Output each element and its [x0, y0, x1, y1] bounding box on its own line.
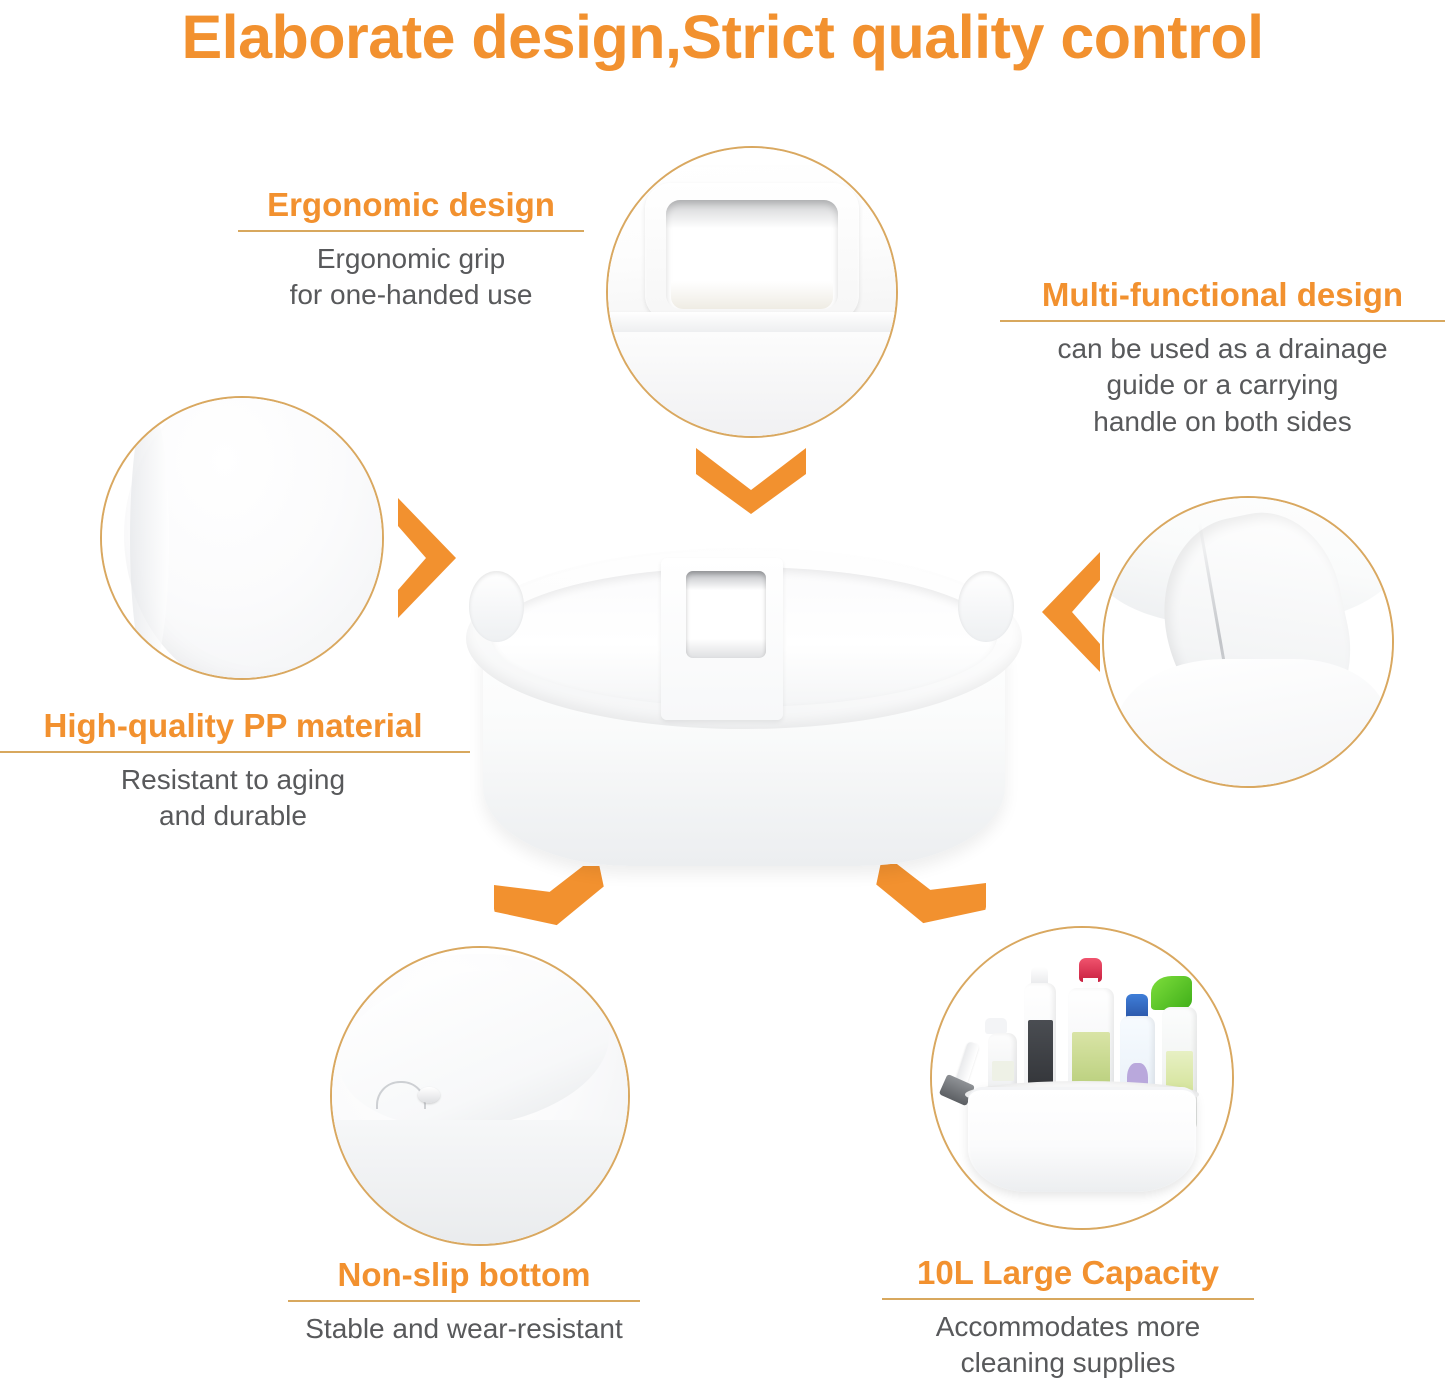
- feature-ergonomic-design: Ergonomic design Ergonomic grip for one-…: [238, 186, 584, 314]
- base-illustration: [332, 948, 628, 1244]
- handle-illustration: [608, 148, 896, 436]
- spray-trigger-green: [1151, 976, 1192, 1010]
- caddy-bin: [968, 1087, 1196, 1192]
- base-foot-nub: [418, 1087, 440, 1103]
- product-carry-handle: [686, 571, 767, 658]
- arrow-left-right: [398, 498, 474, 618]
- arrow-bottom-left: [494, 866, 606, 940]
- supplies-illustration: [932, 928, 1232, 1228]
- feature-large-capacity: 10L Large Capacity Accommodates more cle…: [882, 1254, 1254, 1382]
- handle-grip-opening: [666, 200, 839, 309]
- feature-nonslip-bottom: Non-slip bottom Stable and wear-resistan…: [288, 1256, 640, 1347]
- caddy-with-supplies-image: [932, 928, 1232, 1228]
- base-shadow: [332, 1120, 628, 1244]
- feature-description: Accommodates more cleaning supplies: [882, 1309, 1254, 1382]
- base-closeup-image: [332, 948, 628, 1244]
- product-spout-left: [469, 571, 525, 642]
- feature-title: Non-slip bottom: [288, 1256, 640, 1295]
- pp-surface-edge: [130, 404, 169, 673]
- feature-description: Ergonomic grip for one-handed use: [238, 241, 584, 314]
- pp-surface-illustration: [102, 398, 382, 678]
- spout-lower-wall: [1116, 659, 1387, 786]
- feature-description: Stable and wear-resistant: [288, 1311, 640, 1347]
- page-title: Elaborate design,Strict quality control: [0, 2, 1445, 72]
- spray-label-clear: [992, 1061, 1015, 1081]
- arrow-top-down: [696, 448, 806, 514]
- feature-title: High-quality PP material: [0, 707, 470, 746]
- feature-underline: [238, 230, 584, 232]
- feature-multifunctional-design: Multi-functional design can be used as a…: [1000, 276, 1445, 440]
- feature-title: Ergonomic design: [238, 186, 584, 225]
- product-infographic: Elaborate design,Strict quality control: [0, 0, 1445, 1392]
- feature-pp-material: High-quality PP material Resistant to ag…: [0, 707, 470, 835]
- feature-title: 10L Large Capacity: [882, 1254, 1254, 1293]
- feature-underline: [1000, 320, 1445, 322]
- product-main-image: [466, 548, 1022, 872]
- feature-description: can be used as a drainage guide or a car…: [1000, 331, 1445, 440]
- handle-body-front: [608, 332, 896, 436]
- product-spout-right: [958, 571, 1014, 642]
- spray-trigger-clear: [985, 1018, 1007, 1034]
- arrow-right-left: [1024, 552, 1100, 672]
- side-spout-image: [1104, 498, 1392, 786]
- feature-underline: [882, 1298, 1254, 1300]
- handle-closeup-photo: [606, 146, 898, 438]
- handle-closeup-image: [608, 148, 896, 436]
- caddy-with-supplies-photo: [930, 926, 1234, 1230]
- side-spout-closeup-photo: [1102, 496, 1394, 788]
- arrow-bottom-right: [874, 864, 986, 938]
- pp-surface-closeup-photo: [100, 396, 384, 680]
- base-closeup-photo: [330, 946, 630, 1246]
- side-spout-illustration: [1104, 498, 1392, 786]
- feature-description: Resistant to aging and durable: [0, 762, 470, 835]
- pp-surface-image: [102, 398, 382, 678]
- feature-underline: [0, 751, 470, 753]
- feature-underline: [288, 1300, 640, 1302]
- feature-title: Multi-functional design: [1000, 276, 1445, 315]
